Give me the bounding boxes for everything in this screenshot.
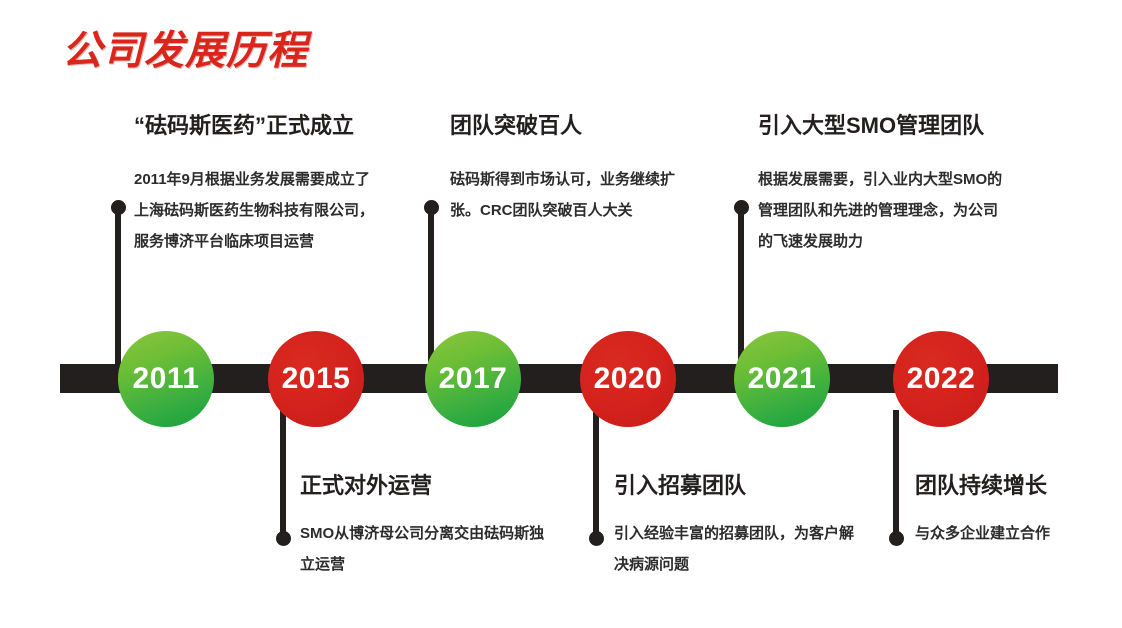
milestone-body-2021: 根据发展需要，引入业内大型SMO的管理团队和先进的管理理念，为公司的飞速发展助力 [758, 164, 1010, 257]
year-node-2022[interactable]: 2022 [893, 331, 989, 427]
year-node-2015[interactable]: 2015 [268, 331, 364, 427]
milestone-body-2017: 砝码斯得到市场认可，业务继续扩张。CRC团队突破百人大关 [450, 164, 700, 226]
year-label-2015: 2015 [282, 364, 351, 394]
year-label-2017: 2017 [439, 364, 508, 394]
milestone-2020: 引入招募团队 引入经验丰富的招募团队，为客户解决病源问题 [614, 472, 862, 580]
milestone-2021: 引入大型SMO管理团队 根据发展需要，引入业内大型SMO的管理团队和先进的管理理… [758, 112, 1010, 257]
year-label-2022: 2022 [907, 364, 976, 394]
connector-dot-2020 [589, 531, 604, 546]
connector-stem-2017 [428, 205, 434, 373]
milestone-2022: 团队持续增长 与众多企业建立合作 [915, 472, 1115, 549]
year-label-2020: 2020 [594, 364, 663, 394]
connector-stem-2015 [280, 410, 286, 541]
milestone-body-2011: 2011年9月根据业务发展需要成立了上海砝码斯医药生物科技有限公司，服务博济平台… [134, 164, 380, 257]
milestone-heading-2017: 团队突破百人 [450, 112, 700, 140]
milestone-body-2015: SMO从博济母公司分离交由砝码斯独立运营 [300, 518, 545, 580]
milestone-heading-2022: 团队持续增长 [915, 472, 1115, 500]
connector-dot-2021 [734, 200, 749, 215]
connector-stem-2021 [738, 205, 744, 373]
milestone-heading-2021: 引入大型SMO管理团队 [758, 112, 1010, 140]
milestone-2017: 团队突破百人 砝码斯得到市场认可，业务继续扩张。CRC团队突破百人大关 [450, 112, 700, 226]
milestone-heading-2015: 正式对外运营 [300, 472, 545, 500]
year-node-2011[interactable]: 2011 [118, 331, 214, 427]
connector-dot-2017 [424, 200, 439, 215]
milestone-body-2020: 引入经验丰富的招募团队，为客户解决病源问题 [614, 518, 862, 580]
milestone-body-2022: 与众多企业建立合作 [915, 518, 1115, 549]
milestone-2015: 正式对外运营 SMO从博济母公司分离交由砝码斯独立运营 [300, 472, 545, 580]
timeline-infographic: 公司发展历程 “砝码斯医药”正式成立 2011年9月根据业务发展需要成立了上海砝… [0, 0, 1122, 628]
connector-stem-2020 [593, 410, 599, 541]
connector-dot-2015 [276, 531, 291, 546]
connector-dot-2022 [889, 531, 904, 546]
connector-stem-2022 [893, 410, 899, 541]
page-title: 公司发展历程 [62, 18, 308, 76]
year-label-2021: 2021 [748, 364, 817, 394]
milestone-2011: “砝码斯医药”正式成立 2011年9月根据业务发展需要成立了上海砝码斯医药生物科… [134, 112, 380, 257]
year-node-2021[interactable]: 2021 [734, 331, 830, 427]
connector-stem-2011 [115, 205, 121, 373]
connector-dot-2011 [111, 200, 126, 215]
year-node-2020[interactable]: 2020 [580, 331, 676, 427]
milestone-heading-2020: 引入招募团队 [614, 472, 862, 500]
year-node-2017[interactable]: 2017 [425, 331, 521, 427]
milestone-heading-2011: “砝码斯医药”正式成立 [134, 112, 380, 140]
year-label-2011: 2011 [132, 364, 199, 394]
